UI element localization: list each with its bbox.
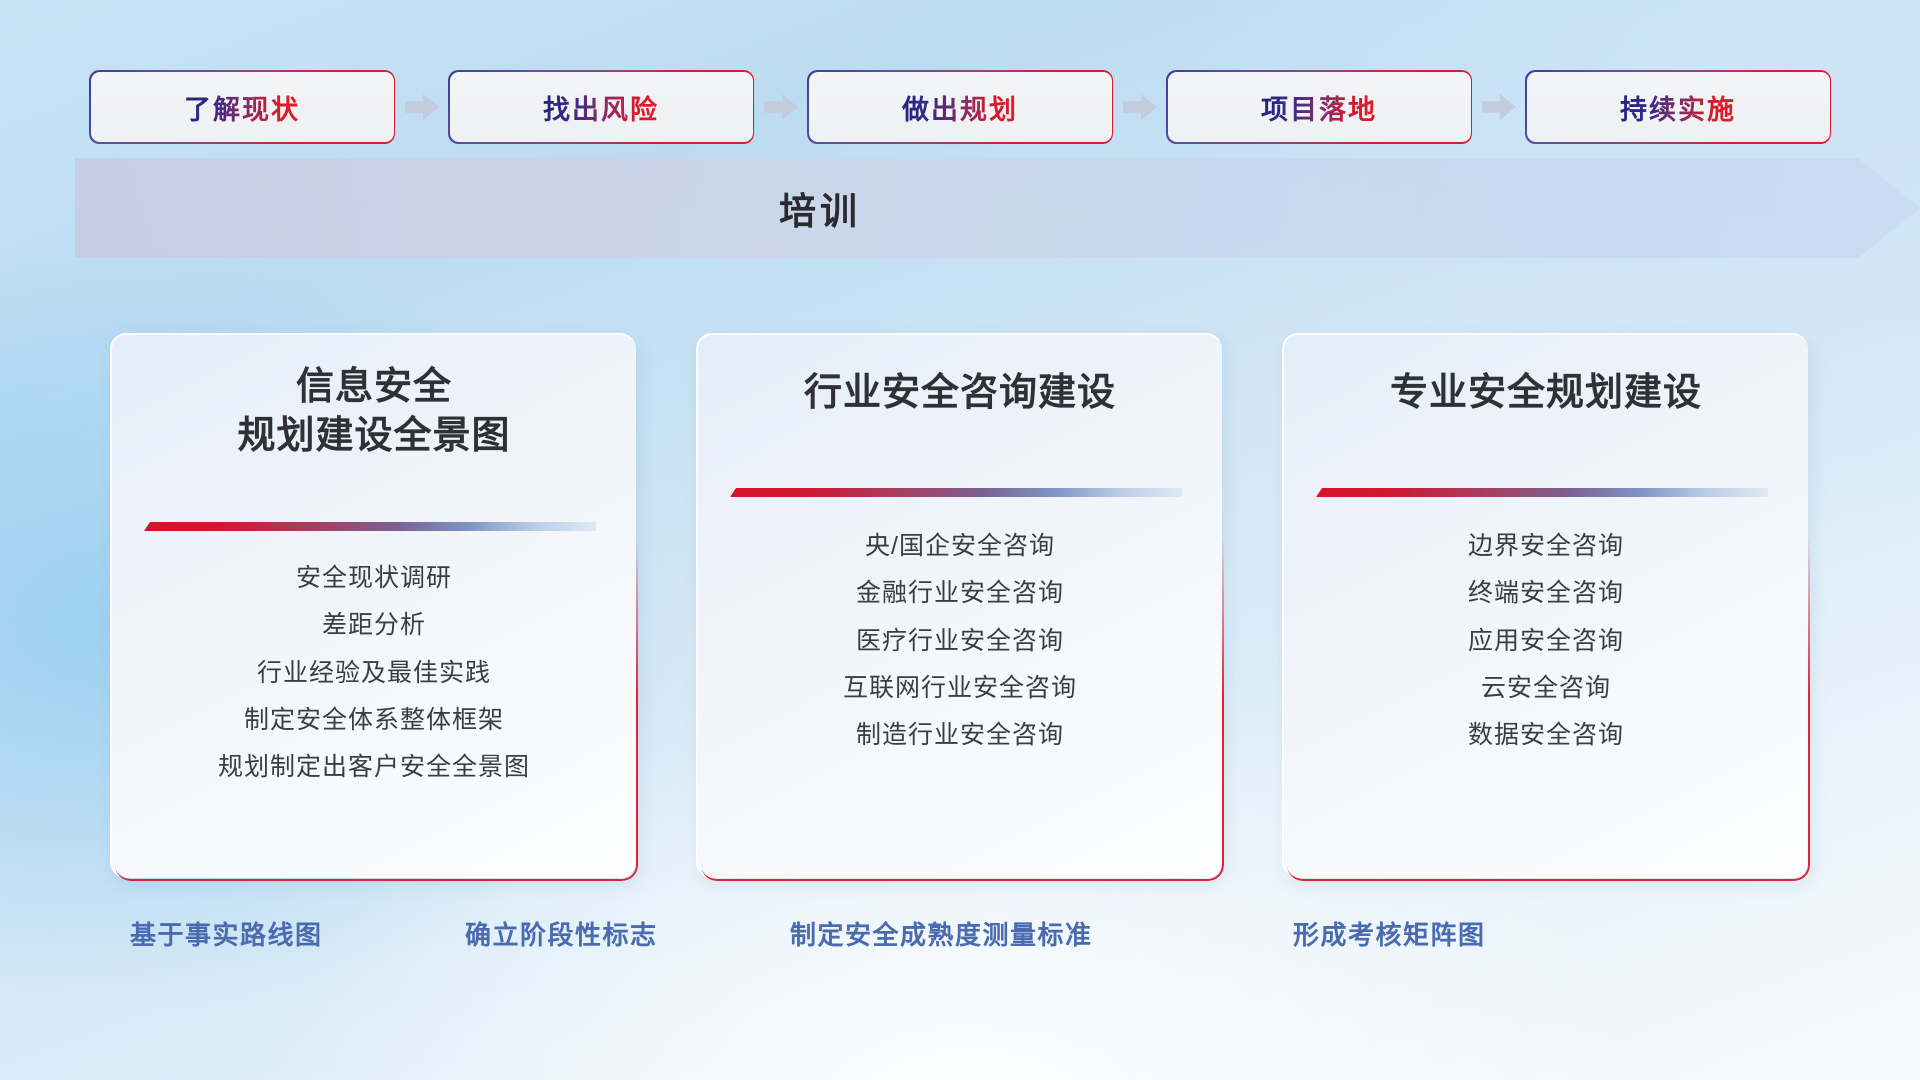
list-item[interactable]: 央/国企安全咨询 xyxy=(865,531,1055,562)
list-item[interactable]: 终端安全咨询 xyxy=(1468,578,1624,609)
service-card-title-line: 规划建设全景图 xyxy=(112,412,636,461)
list-item[interactable]: 云安全咨询 xyxy=(1481,673,1611,704)
process-step-label: 项目落地 xyxy=(1261,88,1377,127)
service-card-title-line: 信息安全 xyxy=(112,363,636,412)
service-card-1[interactable]: 信息安全规划建设全景图安全现状调研差距分析行业经验及最佳实践制定安全体系整体框架… xyxy=(110,333,636,878)
process-step-label: 了解现状 xyxy=(184,88,300,127)
service-card-title-line: 行业安全咨询建设 xyxy=(698,369,1222,418)
process-step-label: 找出风险 xyxy=(543,88,659,127)
chevron-right-arrow-icon xyxy=(1471,72,1527,142)
service-card-list: 边界安全咨询终端安全咨询应用安全咨询云安全咨询数据安全咨询 xyxy=(1284,531,1808,751)
list-item[interactable]: 边界安全咨询 xyxy=(1468,531,1624,562)
service-card-title-line: 专业安全规划建设 xyxy=(1284,369,1808,418)
service-card-list: 央/国企安全咨询金融行业安全咨询医疗行业安全咨询互联网行业安全咨询制造行业安全咨… xyxy=(698,531,1222,751)
outcome-label-1: 基于事实路线图 xyxy=(130,915,323,952)
chevron-right-arrow-icon xyxy=(1112,72,1168,142)
list-item[interactable]: 行业经验及最佳实践 xyxy=(257,658,491,689)
slide-canvas: 了解现状找出风险做出规划项目落地持续实施 培训 信息安全规划建设全景图安全现状调… xyxy=(0,0,1920,1080)
banner-title: 培训 xyxy=(75,158,1565,258)
process-step-5[interactable]: 持续实施 xyxy=(1527,72,1830,142)
service-card-3[interactable]: 专业安全规划建设边界安全咨询终端安全咨询应用安全咨询云安全咨询数据安全咨询 xyxy=(1282,333,1808,878)
training-banner-arrow: 培训 xyxy=(75,158,1920,258)
process-step-label: 做出规划 xyxy=(902,88,1018,127)
process-step-4[interactable]: 项目落地 xyxy=(1168,72,1471,142)
list-item[interactable]: 医疗行业安全咨询 xyxy=(856,626,1064,657)
process-step-2[interactable]: 找出风险 xyxy=(450,72,753,142)
chevron-right-arrow-icon xyxy=(753,72,809,142)
list-item[interactable]: 安全现状调研 xyxy=(296,563,452,594)
outcome-label-3: 制定安全成熟度测量标准 xyxy=(790,915,1093,952)
list-item[interactable]: 金融行业安全咨询 xyxy=(856,578,1064,609)
chevron-right-arrow-icon xyxy=(394,72,450,142)
list-item[interactable]: 应用安全咨询 xyxy=(1468,626,1624,657)
list-item[interactable]: 差距分析 xyxy=(322,610,426,641)
service-card-2[interactable]: 行业安全咨询建设央/国企安全咨询金融行业安全咨询医疗行业安全咨询互联网行业安全咨… xyxy=(696,333,1222,878)
process-step-3[interactable]: 做出规划 xyxy=(809,72,1112,142)
process-step-1[interactable]: 了解现状 xyxy=(91,72,394,142)
list-item[interactable]: 互联网行业安全咨询 xyxy=(843,673,1077,704)
list-item[interactable]: 数据安全咨询 xyxy=(1468,720,1624,751)
service-card-title: 信息安全规划建设全景图 xyxy=(112,363,636,462)
outcome-label-2: 确立阶段性标志 xyxy=(465,915,658,952)
list-item[interactable]: 制定安全体系整体框架 xyxy=(244,705,504,736)
gradient-divider xyxy=(1316,488,1768,497)
service-card-title: 行业安全咨询建设 xyxy=(698,369,1222,418)
bottom-label-row: 基于事实路线图确立阶段性标志制定安全成熟度测量标准形成考核矩阵图 xyxy=(0,915,1920,967)
gradient-divider xyxy=(730,488,1182,497)
outcome-label-4: 形成考核矩阵图 xyxy=(1293,915,1486,952)
service-card-list: 安全现状调研差距分析行业经验及最佳实践制定安全体系整体框架规划制定出客户安全全景… xyxy=(112,563,636,783)
card-row: 信息安全规划建设全景图安全现状调研差距分析行业经验及最佳实践制定安全体系整体框架… xyxy=(0,333,1920,883)
list-item[interactable]: 规划制定出客户安全全景图 xyxy=(218,752,530,783)
process-step-row: 了解现状找出风险做出规划项目落地持续实施 xyxy=(0,68,1920,146)
service-card-title: 专业安全规划建设 xyxy=(1284,369,1808,418)
process-step-label: 持续实施 xyxy=(1620,88,1736,127)
list-item[interactable]: 制造行业安全咨询 xyxy=(856,720,1064,751)
gradient-divider xyxy=(144,522,596,531)
